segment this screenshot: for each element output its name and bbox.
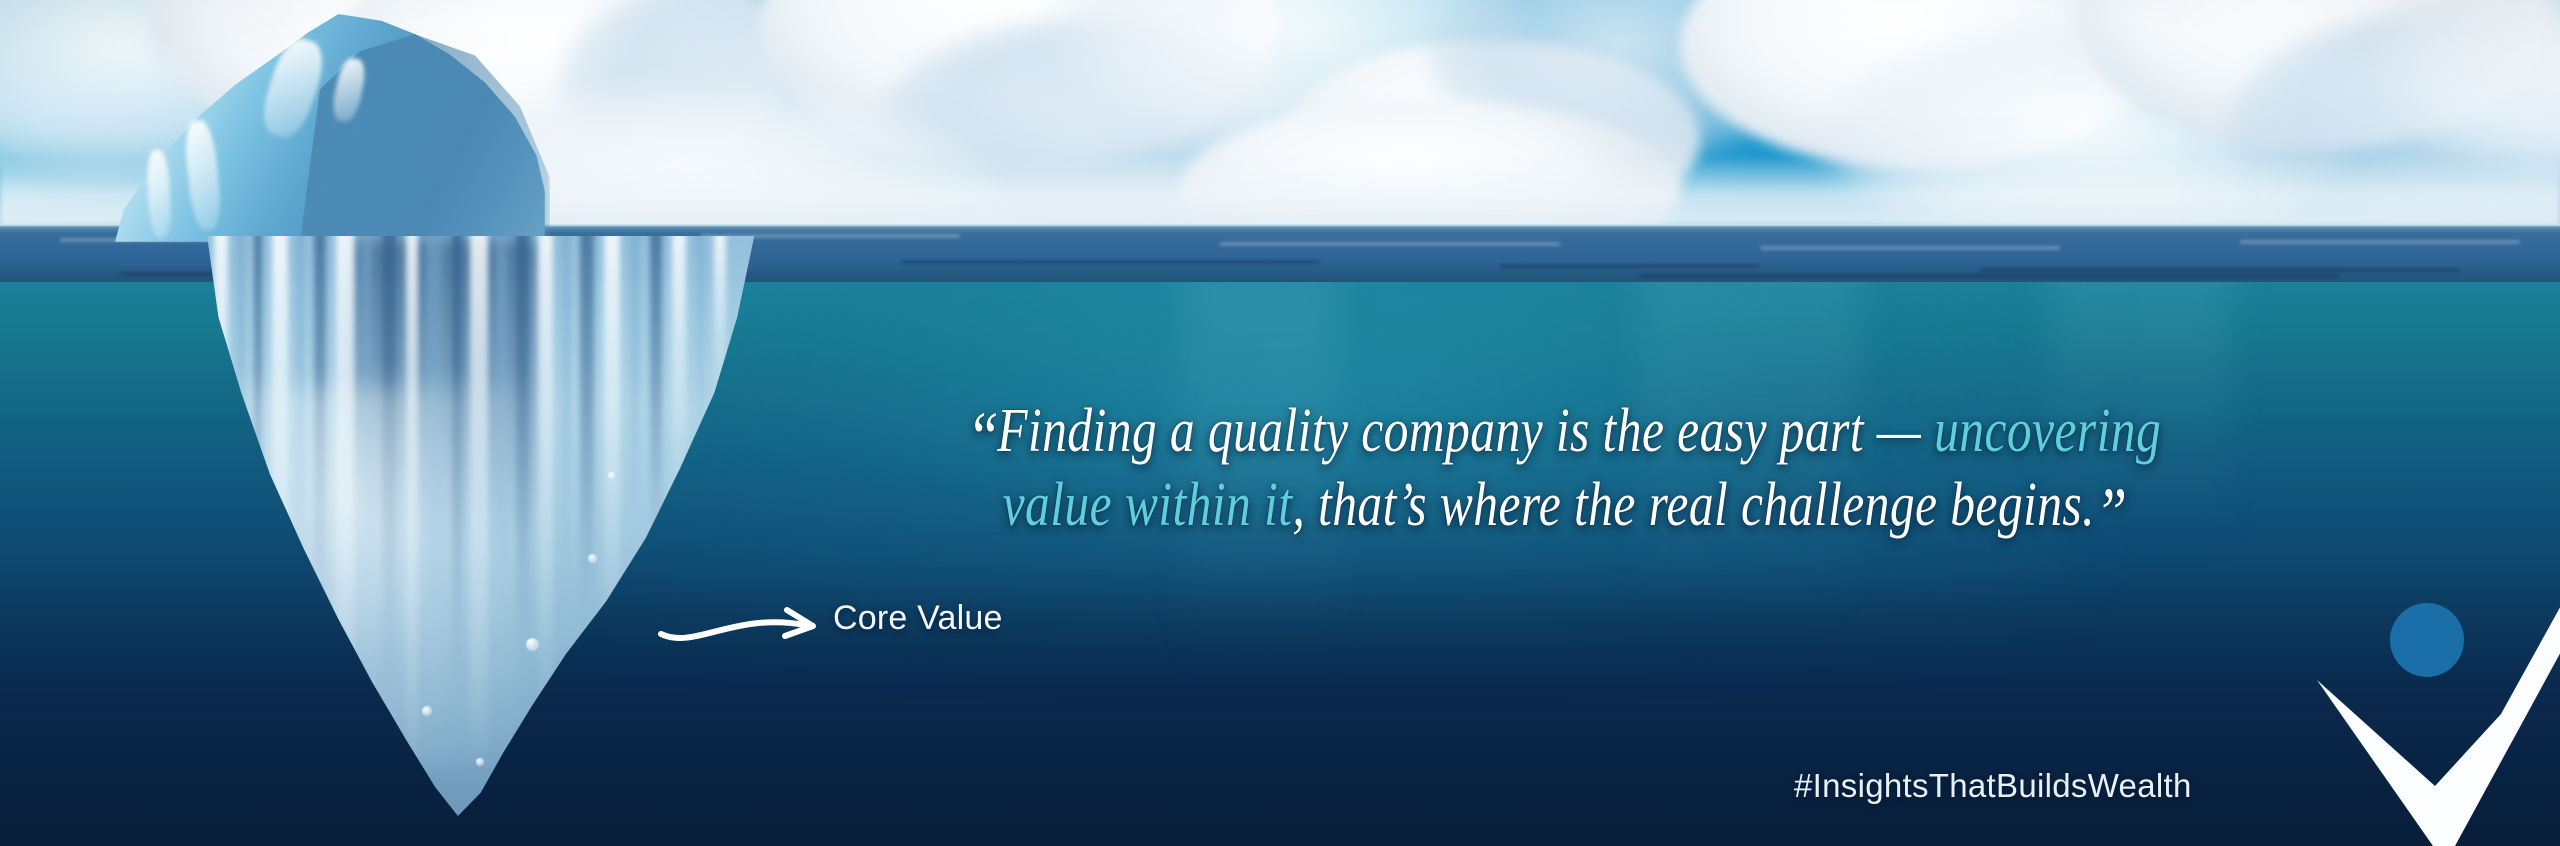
iceberg-quote-banner: Core Value “Finding a quality company is… bbox=[0, 0, 2560, 846]
iceberg bbox=[0, 0, 1000, 846]
bubble bbox=[476, 758, 484, 766]
core-value-annotation: Core Value bbox=[655, 592, 1275, 662]
quote-line-1-accent: uncovering bbox=[1934, 397, 2161, 465]
quote-line-2-accent: value within it bbox=[1003, 471, 1293, 539]
bubble bbox=[608, 472, 615, 479]
curved-arrow-icon bbox=[655, 592, 855, 662]
quote-line-1: “Finding a quality company is the easy p… bbox=[960, 400, 2168, 462]
bubble bbox=[526, 638, 539, 651]
quote-block: “Finding a quality company is the easy p… bbox=[960, 400, 2168, 536]
quote-line-1-white: Finding a quality company is the easy pa… bbox=[997, 397, 1934, 465]
hashtag-text: #InsightsThatBuildsWealth bbox=[1794, 767, 2192, 805]
iceberg-sheen bbox=[230, 386, 530, 766]
quote-line-2-white: , that’s where the real challenge begins… bbox=[1292, 471, 2095, 539]
core-value-label: Core Value bbox=[833, 599, 1003, 638]
close-quote-mark: ” bbox=[2095, 473, 2125, 553]
brand-logo[interactable] bbox=[2305, 596, 2560, 846]
bubble bbox=[422, 706, 432, 716]
iceberg-submerged-mass bbox=[190, 236, 760, 816]
logo-circle-dot bbox=[2390, 603, 2464, 677]
bubble bbox=[588, 554, 597, 563]
quote-line-2: value within it, that’s where the real c… bbox=[960, 474, 2168, 536]
open-quote-mark: “ bbox=[967, 397, 997, 477]
